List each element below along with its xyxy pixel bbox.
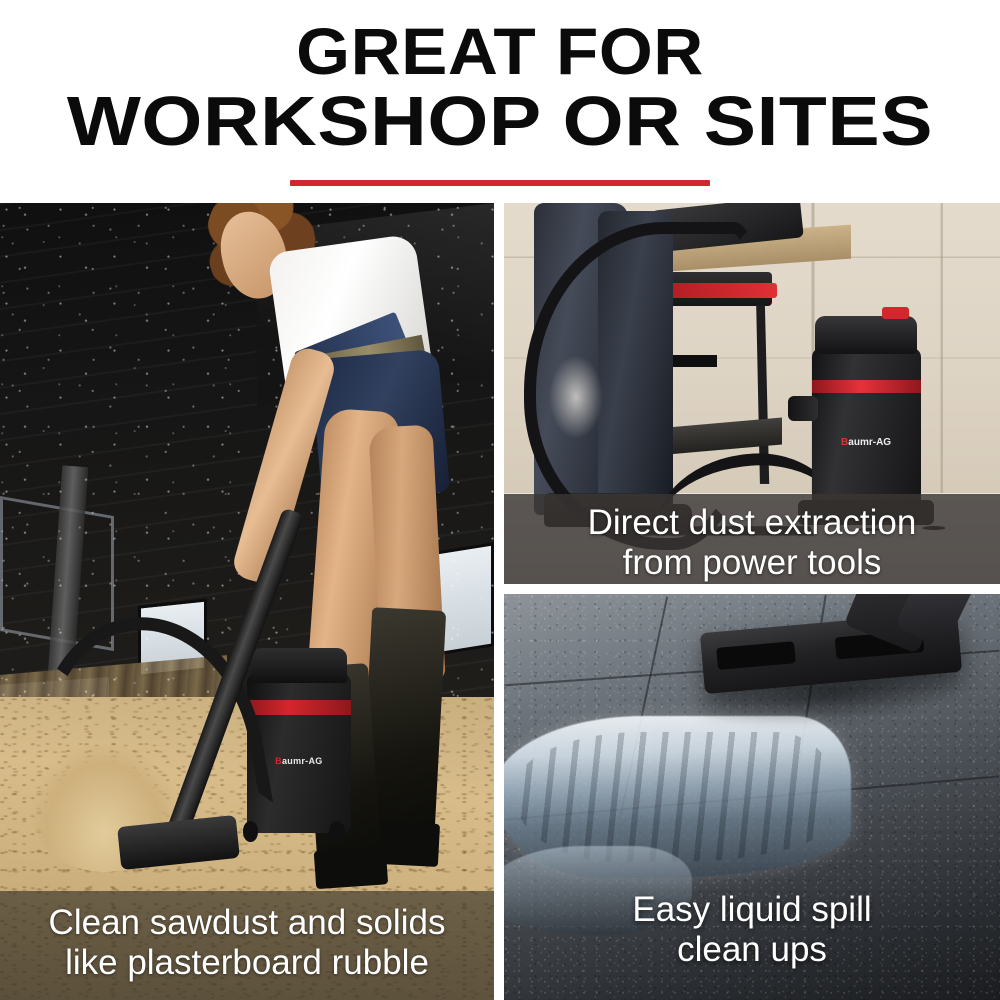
brand-logo: Baumr-AG — [841, 437, 891, 448]
caption-line-1: Direct dust extraction — [504, 503, 1000, 543]
puddle-ceiling-reflection — [514, 732, 831, 862]
vacuum-motor-head — [815, 316, 918, 354]
scene-workshop-sawdust: Baumr-AG — [0, 203, 494, 1000]
brand-logo: Baumr-AG — [275, 756, 322, 766]
boot-sole — [314, 847, 388, 889]
promo-graphic: GREAT FOR WORKSHOP OR SITES — [0, 0, 1000, 1000]
vacuum-hose-inlet — [788, 396, 819, 422]
brand-logo-text: aumr-AG — [282, 756, 323, 766]
caption-line-2: from power tools — [504, 543, 1000, 583]
brand-logo-mark: B — [275, 756, 282, 766]
panel-dust-extraction: Baumr-AG Direct dust extraction from pow… — [504, 203, 1000, 584]
brand-logo-text: aumr-AG — [848, 437, 891, 448]
vacuum-unit: Baumr-AG — [812, 348, 921, 508]
panel-sawdust-cleaning: Baumr-AG Clean sawdust and solids like p… — [0, 203, 494, 1000]
panel-liquid-spill: Easy liquid spill clean ups — [504, 594, 1000, 1000]
nozzle-suction-slot — [717, 641, 796, 670]
caption-liquid-spill: Easy liquid spill clean ups — [504, 890, 1000, 970]
vacuum-caster — [329, 821, 345, 842]
header-block: GREAT FOR WORKSHOP OR SITES — [0, 0, 1000, 203]
caption-sawdust: Clean sawdust and solids like plasterboa… — [0, 903, 494, 983]
caption-line-2: like plasterboard rubble — [0, 943, 494, 983]
caption-line-1: Easy liquid spill — [504, 890, 1000, 930]
caption-line-2: clean ups — [504, 930, 1000, 970]
vacuum-red-band — [812, 380, 921, 393]
caption-line-1: Clean sawdust and solids — [0, 903, 494, 943]
caption-dust-extraction: Direct dust extraction from power tools — [504, 503, 1000, 583]
headline-line-2: WORKSHOP OR SITES — [0, 88, 1000, 155]
red-divider-rule — [290, 180, 710, 186]
headline-line-1: GREAT FOR — [0, 20, 1000, 83]
